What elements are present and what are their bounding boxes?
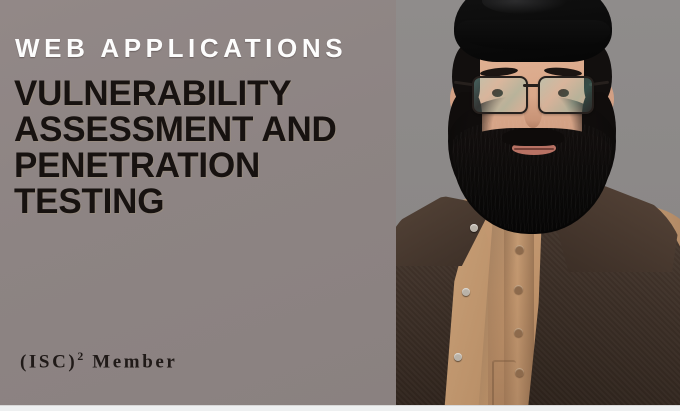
moustache <box>502 128 564 146</box>
headline-line-3: PENETRATION <box>14 148 386 184</box>
waistcoat-button <box>454 353 462 361</box>
bottom-strip-divider <box>0 405 680 406</box>
credential-suffix: Member <box>92 351 177 372</box>
credential-badge: (ISC)2Member <box>20 350 177 373</box>
credential-superscript: 2 <box>77 350 83 363</box>
glasses-left-lens <box>472 76 528 114</box>
eyebrow-heading: WEB APPLICATIONS <box>15 33 347 64</box>
credential-prefix: (ISC) <box>20 351 77 372</box>
portrait-photo <box>396 0 680 405</box>
main-headline: VULNERABILITY ASSESSMENT AND PENETRATION… <box>14 76 386 220</box>
headline-line-4: TESTING <box>14 184 386 220</box>
waistcoat-button <box>462 288 470 296</box>
waistcoat-button <box>470 224 478 232</box>
glasses-right-lens <box>538 76 594 114</box>
thumbnail-banner: WEB APPLICATIONS VULNERABILITY ASSESSMEN… <box>0 0 680 411</box>
kufi-cap-band <box>456 20 610 50</box>
text-column: WEB APPLICATIONS VULNERABILITY ASSESSMEN… <box>0 0 396 405</box>
kurta-button <box>514 328 523 337</box>
lip-line <box>514 148 554 150</box>
glasses-bridge <box>523 84 539 87</box>
headline-line-1: VULNERABILITY <box>14 76 386 112</box>
kurta-button <box>515 368 524 377</box>
kurta-button <box>514 285 523 294</box>
headline-line-2: ASSESSMENT AND <box>14 112 386 148</box>
